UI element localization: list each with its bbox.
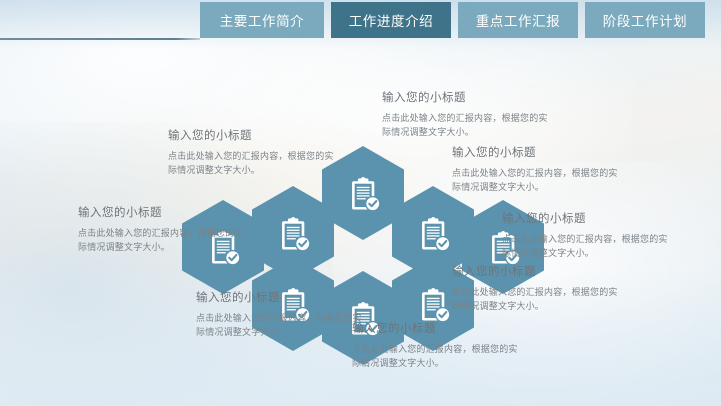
header-divider-rule bbox=[0, 38, 200, 40]
callout-lower-right: 输入您的小标题 点击此处输入您的汇报内容，根据您的实际情况调整文字大小。 bbox=[452, 263, 624, 314]
callout-title: 输入您的小标题 bbox=[168, 127, 340, 143]
tab-label: 重点工作汇报 bbox=[476, 10, 561, 30]
callout-body: 点击此处输入您的汇报内容，根据您的实际情况调整文字大小。 bbox=[352, 343, 524, 371]
callout-title: 输入您的小标题 bbox=[78, 204, 250, 220]
callout-title: 输入您的小标题 bbox=[502, 210, 674, 226]
callout-body: 点击此处输入您的汇报内容，根据您的实际情况调整文字大小。 bbox=[382, 112, 554, 140]
tab-key-work-report[interactable]: 重点工作汇报 bbox=[458, 2, 578, 38]
tab-work-progress-intro[interactable]: 工作进度介绍 bbox=[331, 2, 451, 38]
tab-label: 主要工作简介 bbox=[220, 10, 305, 30]
callout-bottom: 输入您的小标题 点击此处输入您的汇报内容，根据您的实际情况调整文字大小。 bbox=[352, 320, 524, 371]
callout-title: 输入您的小标题 bbox=[382, 89, 554, 105]
tab-label: 阶段工作计划 bbox=[603, 10, 688, 30]
callout-upper-left: 输入您的小标题 点击此处输入您的汇报内容，根据您的实际情况调整文字大小。 bbox=[168, 127, 340, 178]
callout-body: 点击此处输入您的汇报内容，根据您的实际情况调整文字大小。 bbox=[196, 312, 368, 340]
tab-phase-work-plan[interactable]: 阶段工作计划 bbox=[585, 2, 705, 38]
callout-title: 输入您的小标题 bbox=[452, 263, 624, 279]
callout-title: 输入您的小标题 bbox=[352, 320, 524, 336]
presentation-slide: 主要工作简介 工作进度介绍 重点工作汇报 阶段工作计划 bbox=[0, 0, 721, 406]
callout-body: 点击此处输入您的汇报内容，根据您的实际情况调整文字大小。 bbox=[452, 167, 624, 195]
tab-main-work-intro[interactable]: 主要工作简介 bbox=[200, 2, 324, 38]
callout-title: 输入您的小标题 bbox=[196, 289, 368, 305]
callout-top: 输入您的小标题 点击此处输入您的汇报内容，根据您的实际情况调整文字大小。 bbox=[382, 89, 554, 140]
callout-body: 点击此处输入您的汇报内容，根据您的实际情况调整文字大小。 bbox=[502, 233, 674, 261]
callout-title: 输入您的小标题 bbox=[452, 144, 624, 160]
tab-label: 工作进度介绍 bbox=[349, 10, 434, 30]
callout-left: 输入您的小标题 点击此处输入您的汇报内容，根据您的实际情况调整文字大小。 bbox=[78, 204, 250, 255]
callout-body: 点击此处输入您的汇报内容，根据您的实际情况调整文字大小。 bbox=[78, 227, 250, 255]
callout-right: 输入您的小标题 点击此处输入您的汇报内容，根据您的实际情况调整文字大小。 bbox=[502, 210, 674, 261]
callout-upper-right: 输入您的小标题 点击此处输入您的汇报内容，根据您的实际情况调整文字大小。 bbox=[452, 144, 624, 195]
callout-body: 点击此处输入您的汇报内容，根据您的实际情况调整文字大小。 bbox=[168, 150, 340, 178]
callout-body: 点击此处输入您的汇报内容，根据您的实际情况调整文字大小。 bbox=[452, 286, 624, 314]
callout-lower-left: 输入您的小标题 点击此处输入您的汇报内容，根据您的实际情况调整文字大小。 bbox=[196, 289, 368, 340]
section-tab-bar: 主要工作简介 工作进度介绍 重点工作汇报 阶段工作计划 bbox=[200, 2, 705, 38]
